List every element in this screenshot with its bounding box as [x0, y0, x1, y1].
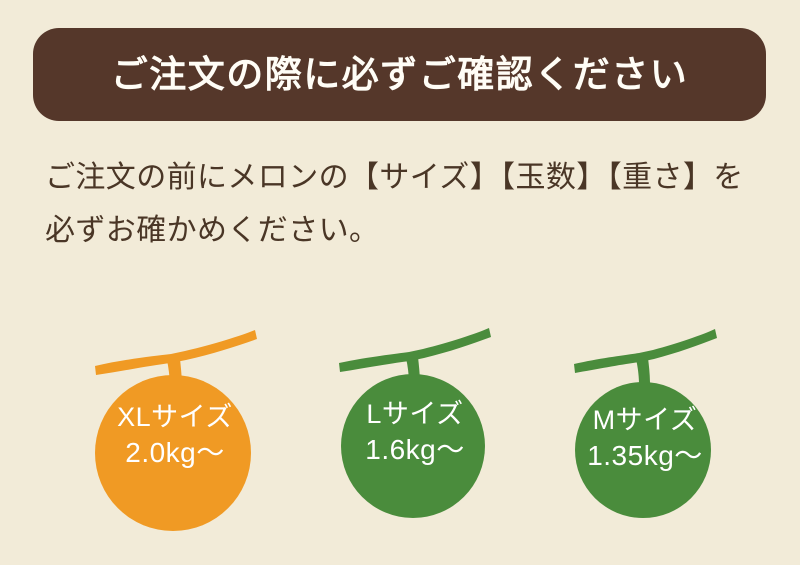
instruction-line-1: ご注文の前にメロンの【サイズ】【玉数】【重さ】を [45, 152, 760, 205]
melon-icon-l [331, 318, 499, 538]
page-root: ご注文の際に必ずご確認ください ご注文の前にメロンの【サイズ】【玉数】【重さ】を… [0, 0, 800, 565]
instruction-text: ご注文の前にメロンの【サイズ】【玉数】【重さ】を 必ずお確かめください。 [45, 152, 760, 257]
page-title: ご注文の際に必ずご確認ください [111, 56, 689, 93]
instruction-line-2: 必ずお確かめください。 [45, 205, 760, 258]
melon-size-group: XLサイズ 2.0kg〜 Lサイズ 1.6kg〜 [0, 318, 800, 558]
melon-icon-m [566, 318, 724, 531]
melon-card-m: Mサイズ 1.35kg〜 [566, 318, 724, 531]
melon-icon-xl [85, 318, 265, 548]
header-banner: ご注文の際に必ずご確認ください [33, 28, 766, 121]
melon-card-xl: XLサイズ 2.0kg〜 [85, 318, 265, 548]
melon-card-l: Lサイズ 1.6kg〜 [331, 318, 499, 538]
